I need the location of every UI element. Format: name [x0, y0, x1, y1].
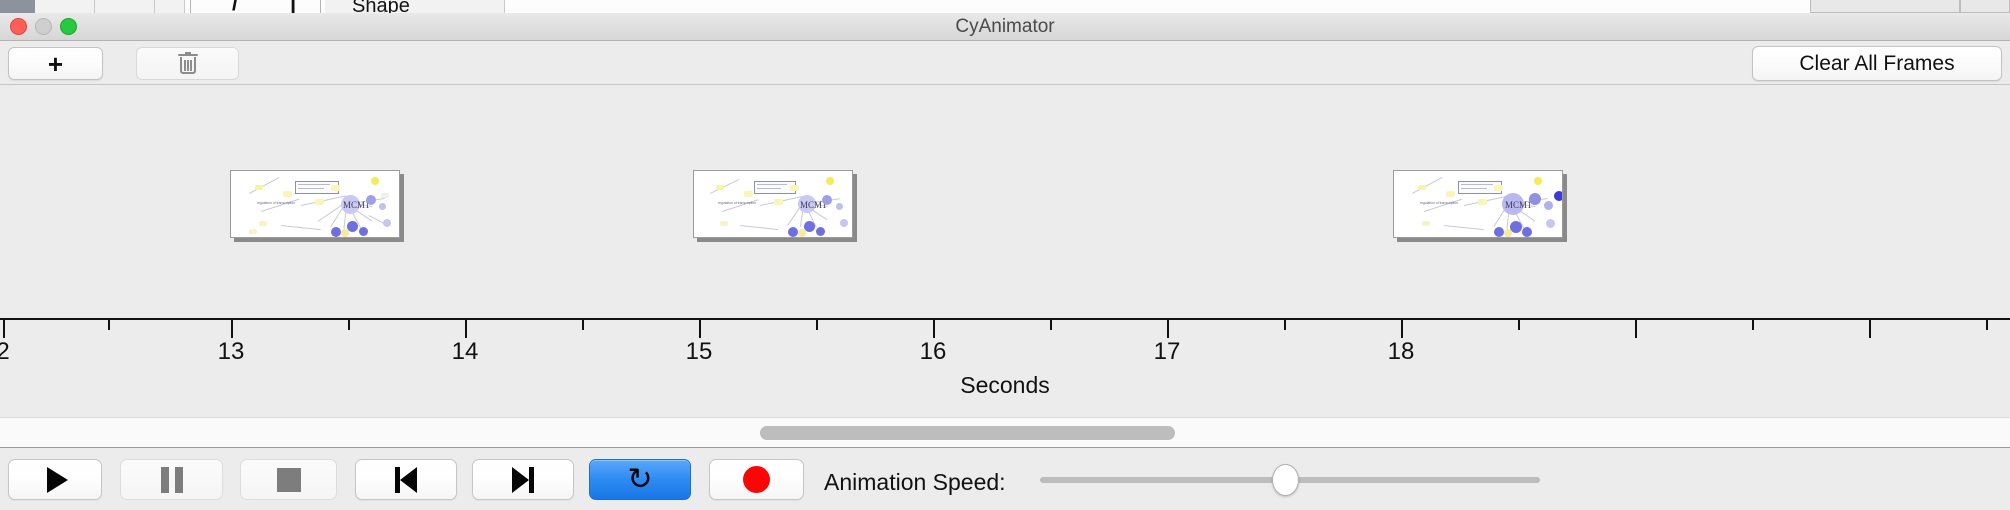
- network-graphic: MCM1 regulation of transcription: [694, 171, 852, 237]
- title-bar: CyAnimator: [0, 13, 2010, 41]
- animation-speed-slider-thumb[interactable]: [1272, 464, 1299, 496]
- timeline-axis: [0, 318, 2010, 320]
- axis-tick-minor: [582, 320, 584, 330]
- timeline-frame-2[interactable]: MCM1 regulation of transcription: [693, 170, 853, 238]
- skip-previous-icon: [395, 467, 417, 493]
- axis-tick-major: [699, 320, 701, 338]
- stop-icon: [277, 468, 301, 492]
- axis-tick-major: [3, 320, 5, 338]
- axis-tick-label: 15: [686, 338, 713, 366]
- toolbar: + Clear All Frames: [0, 41, 2010, 85]
- playback-control-bar: ↻ Animation Speed:: [0, 449, 2010, 510]
- skip-next-icon: [512, 467, 534, 493]
- axis-tick-major: [933, 320, 935, 338]
- pause-button[interactable]: [120, 459, 223, 500]
- axis-tick-major: [465, 320, 467, 338]
- cyanimator-window: / | Shape CyAnimator +: [0, 0, 2010, 510]
- plus-icon: +: [48, 51, 63, 77]
- axis-tick-major: [1401, 320, 1403, 338]
- delete-frame-button[interactable]: [136, 47, 239, 80]
- axis-tick-minor: [348, 320, 350, 330]
- axis-tick-minor: [1986, 320, 1988, 330]
- timeline-frame-3[interactable]: MCM1 regulation of transcription: [1393, 170, 1563, 238]
- clear-all-frames-label: Clear All Frames: [1799, 52, 1954, 76]
- timeline-panel[interactable]: MCM1 regulation of trans: [0, 86, 2010, 417]
- axis-tick-minor: [1518, 320, 1520, 330]
- background-window-strip: / | Shape: [0, 0, 2010, 13]
- next-frame-button[interactable]: [472, 459, 574, 500]
- axis-tick-minor: [1752, 320, 1754, 330]
- frame-thumbnail-image: MCM1 regulation of trans: [230, 170, 400, 238]
- axis-tick-label: 17: [1154, 338, 1181, 366]
- axis-tick-minor: [816, 320, 818, 330]
- add-frame-button[interactable]: +: [8, 47, 103, 80]
- axis-tick-label: 16: [920, 338, 947, 366]
- pause-icon: [161, 467, 183, 493]
- previous-frame-button[interactable]: [355, 459, 457, 500]
- loop-icon: ↻: [627, 465, 652, 495]
- trash-icon: [178, 52, 198, 75]
- clear-all-frames-button[interactable]: Clear All Frames: [1752, 46, 2002, 81]
- axis-tick-major: [231, 320, 233, 338]
- axis-tick-label: 13: [218, 338, 245, 366]
- axis-tick-label: 18: [1388, 338, 1415, 366]
- animation-speed-label: Animation Speed:: [824, 469, 1006, 496]
- record-button[interactable]: [709, 459, 804, 500]
- timeline-frame-1[interactable]: MCM1 regulation of trans: [230, 170, 400, 238]
- record-icon: [743, 466, 770, 493]
- loop-button[interactable]: ↻: [589, 459, 691, 500]
- timeline-scrollbar-thumb[interactable]: [760, 426, 1175, 440]
- axis-tick-label: 2: [0, 338, 10, 366]
- axis-tick-major: [1635, 320, 1637, 338]
- window-title: CyAnimator: [0, 13, 2010, 41]
- network-graphic: MCM1 regulation of trans: [231, 171, 399, 237]
- network-graphic: MCM1 regulation of transcription: [1394, 171, 1562, 237]
- stop-button[interactable]: [240, 459, 337, 500]
- play-icon: [47, 467, 68, 493]
- background-window-label: Shape: [352, 0, 410, 13]
- axis-tick-minor: [1050, 320, 1052, 330]
- timeline-scrollbar-track[interactable]: [0, 417, 2010, 448]
- play-button[interactable]: [8, 459, 102, 500]
- frame-thumbnail-image: MCM1 regulation of transcription: [693, 170, 853, 238]
- axis-tick-major: [1167, 320, 1169, 338]
- node-label-mcm1: MCM1: [1505, 200, 1532, 210]
- axis-tick-label: 14: [452, 338, 479, 366]
- axis-title: Seconds: [0, 372, 2010, 399]
- axis-tick-minor: [108, 320, 110, 330]
- axis-tick-major: [1869, 320, 1871, 338]
- frame-thumbnail-image: MCM1 regulation of transcription: [1393, 170, 1563, 238]
- axis-tick-minor: [1284, 320, 1286, 330]
